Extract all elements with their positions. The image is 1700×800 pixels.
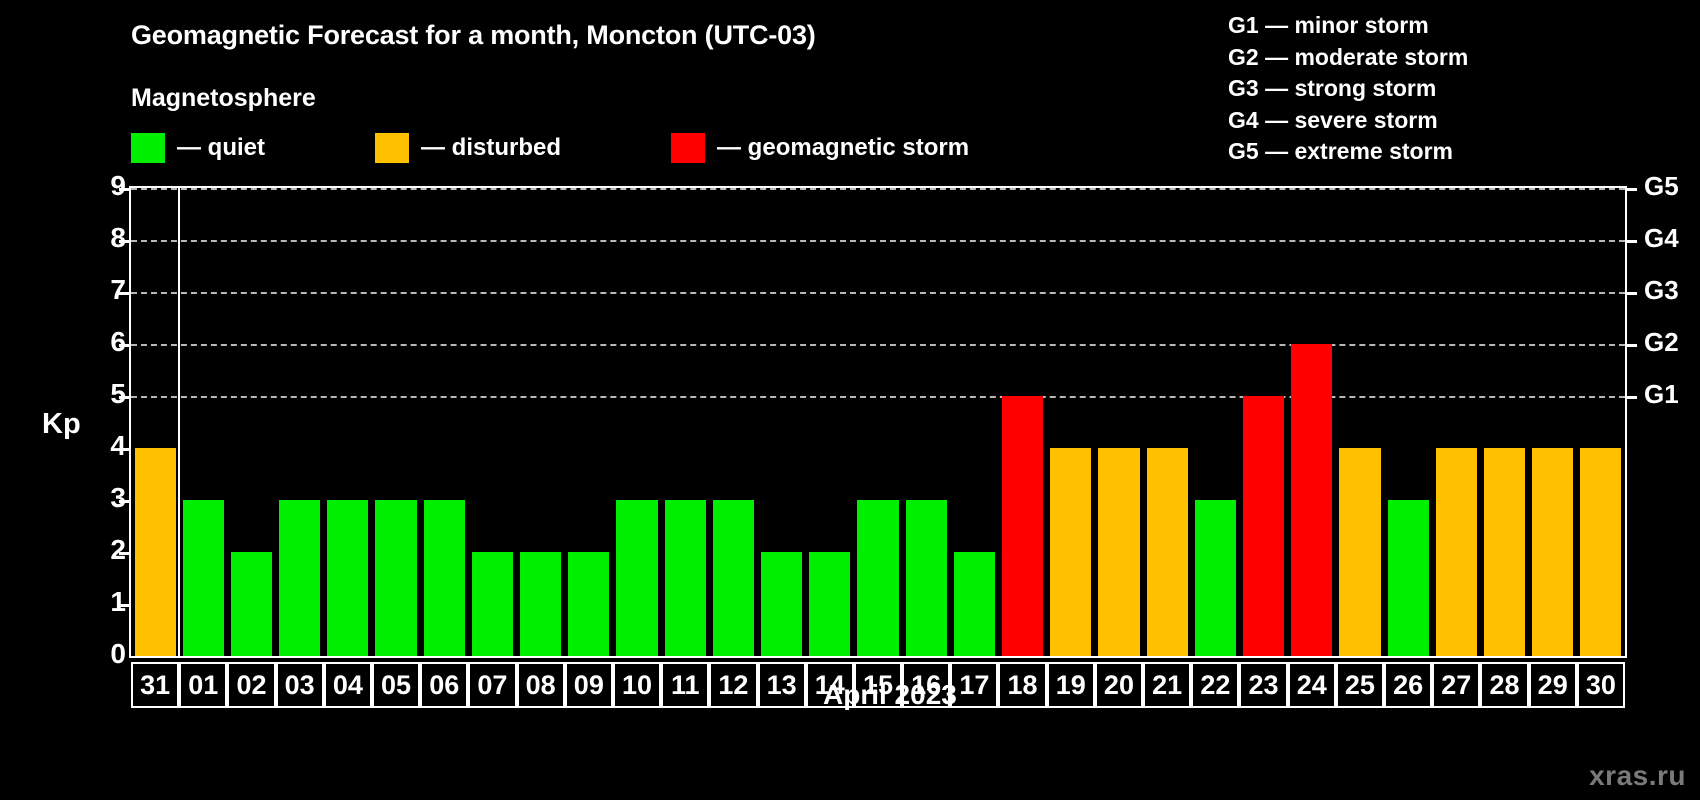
day-label-09[interactable]: 09 xyxy=(565,662,613,708)
bar-day-01[interactable] xyxy=(183,500,224,656)
bar-day-15[interactable] xyxy=(857,500,898,656)
bar-day-11[interactable] xyxy=(665,500,706,656)
day-label-27[interactable]: 27 xyxy=(1432,662,1480,708)
y-tick-mark-6 xyxy=(119,344,130,347)
bar-day-18[interactable] xyxy=(1002,396,1043,656)
g-tick-mark-G2 xyxy=(1626,344,1637,347)
bar-day-12[interactable] xyxy=(713,500,754,656)
y-tick-label-4: 4 xyxy=(84,430,126,462)
g-tick-label-G1: G1 xyxy=(1644,379,1679,410)
day-label-31[interactable]: 31 xyxy=(131,662,179,708)
bar-day-26[interactable] xyxy=(1388,500,1429,656)
day-label-26[interactable]: 26 xyxy=(1384,662,1432,708)
g-scale-legend: G1 — minor stormG2 — moderate stormG3 — … xyxy=(1228,10,1468,168)
day-label-24[interactable]: 24 xyxy=(1288,662,1336,708)
y-tick-mark-5 xyxy=(119,396,130,399)
bar-day-13[interactable] xyxy=(761,552,802,656)
g-tick-mark-G1 xyxy=(1626,396,1637,399)
plot-area xyxy=(129,186,1627,658)
bar-day-24[interactable] xyxy=(1291,344,1332,656)
day-label-01[interactable]: 01 xyxy=(179,662,227,708)
legend-label-disturbed: — disturbed xyxy=(421,134,561,162)
day-label-08[interactable]: 08 xyxy=(517,662,565,708)
bar-day-22[interactable] xyxy=(1195,500,1236,656)
g-legend-line-2: G2 — moderate storm xyxy=(1228,42,1468,74)
day-label-20[interactable]: 20 xyxy=(1095,662,1143,708)
y-tick-label-2: 2 xyxy=(84,534,126,566)
y-tick-label-3: 3 xyxy=(84,482,126,514)
legend-entry-disturbed: — disturbed xyxy=(375,133,561,163)
y-tick-label-0: 0 xyxy=(84,638,126,670)
y-tick-label-9: 9 xyxy=(84,170,126,202)
bar-day-30[interactable] xyxy=(1580,448,1621,656)
day-label-07[interactable]: 07 xyxy=(468,662,516,708)
day-label-19[interactable]: 19 xyxy=(1047,662,1095,708)
day-label-04[interactable]: 04 xyxy=(324,662,372,708)
g-legend-line-1: G1 — minor storm xyxy=(1228,10,1468,42)
bar-day-27[interactable] xyxy=(1436,448,1477,656)
legend-swatch-quiet-icon xyxy=(131,133,165,163)
day-label-17[interactable]: 17 xyxy=(950,662,998,708)
y-tick-mark-8 xyxy=(119,240,130,243)
y-tick-label-6: 6 xyxy=(84,326,126,358)
bar-day-06[interactable] xyxy=(424,500,465,656)
day-label-13[interactable]: 13 xyxy=(758,662,806,708)
bar-day-31[interactable] xyxy=(135,448,176,656)
legend-label-quiet: — quiet xyxy=(177,134,265,162)
g-tick-label-G4: G4 xyxy=(1644,223,1679,254)
legend-heading: Magnetosphere xyxy=(131,84,316,113)
day-label-10[interactable]: 10 xyxy=(613,662,661,708)
y-tick-mark-1 xyxy=(119,604,130,607)
legend-swatch-storm-icon xyxy=(671,133,705,163)
day-label-18[interactable]: 18 xyxy=(998,662,1046,708)
bar-day-19[interactable] xyxy=(1050,448,1091,656)
day-label-29[interactable]: 29 xyxy=(1529,662,1577,708)
day-label-25[interactable]: 25 xyxy=(1336,662,1384,708)
day-label-12[interactable]: 12 xyxy=(709,662,757,708)
day-label-02[interactable]: 02 xyxy=(227,662,275,708)
g-tick-label-G5: G5 xyxy=(1644,171,1679,202)
bar-day-02[interactable] xyxy=(231,552,272,656)
g-tick-mark-G5 xyxy=(1626,188,1637,191)
g-tick-label-G2: G2 xyxy=(1644,327,1679,358)
bar-day-16[interactable] xyxy=(906,500,947,656)
y-tick-mark-9 xyxy=(119,188,130,191)
bar-day-09[interactable] xyxy=(568,552,609,656)
day-label-11[interactable]: 11 xyxy=(661,662,709,708)
y-tick-label-1: 1 xyxy=(84,586,126,618)
y-tick-mark-3 xyxy=(119,500,130,503)
x-axis-title: April 2023 xyxy=(823,679,957,711)
g-legend-line-4: G4 — severe storm xyxy=(1228,105,1468,137)
g-tick-label-G3: G3 xyxy=(1644,275,1679,306)
y-tick-mark-2 xyxy=(119,552,130,555)
day-label-21[interactable]: 21 xyxy=(1143,662,1191,708)
g-legend-line-5: G5 — extreme storm xyxy=(1228,136,1468,168)
bar-day-28[interactable] xyxy=(1484,448,1525,656)
day-label-23[interactable]: 23 xyxy=(1239,662,1287,708)
page-title: Geomagnetic Forecast for a month, Moncto… xyxy=(131,20,816,51)
day-label-05[interactable]: 05 xyxy=(372,662,420,708)
y-axis-title: Kp xyxy=(42,408,81,441)
bar-day-29[interactable] xyxy=(1532,448,1573,656)
g-tick-mark-G3 xyxy=(1626,292,1637,295)
bar-day-03[interactable] xyxy=(279,500,320,656)
legend-swatch-disturbed-icon xyxy=(375,133,409,163)
y-tick-label-8: 8 xyxy=(84,222,126,254)
y-tick-mark-7 xyxy=(119,292,130,295)
bar-day-05[interactable] xyxy=(375,500,416,656)
bar-day-20[interactable] xyxy=(1098,448,1139,656)
legend-label-storm: — geomagnetic storm xyxy=(717,134,969,162)
bar-day-17[interactable] xyxy=(954,552,995,656)
watermark: xras.ru xyxy=(1589,760,1686,792)
bar-day-07[interactable] xyxy=(472,552,513,656)
day-label-22[interactable]: 22 xyxy=(1191,662,1239,708)
bar-day-08[interactable] xyxy=(520,552,561,656)
bar-day-14[interactable] xyxy=(809,552,850,656)
magnetosphere-legend: — quiet— disturbed— geomagnetic storm xyxy=(131,132,969,164)
bar-day-21[interactable] xyxy=(1147,448,1188,656)
day-label-03[interactable]: 03 xyxy=(276,662,324,708)
y-tick-mark-4 xyxy=(119,448,130,451)
g-tick-mark-G4 xyxy=(1626,240,1637,243)
day-label-30[interactable]: 30 xyxy=(1577,662,1625,708)
y-tick-label-7: 7 xyxy=(84,274,126,306)
day-label-28[interactable]: 28 xyxy=(1480,662,1528,708)
bars-layer xyxy=(131,188,1625,656)
bar-day-10[interactable] xyxy=(616,500,657,656)
bar-day-23[interactable] xyxy=(1243,396,1284,656)
g-legend-line-3: G3 — strong storm xyxy=(1228,73,1468,105)
bar-day-04[interactable] xyxy=(327,500,368,656)
legend-entry-quiet: — quiet xyxy=(131,133,265,163)
y-tick-label-5: 5 xyxy=(84,378,126,410)
bar-day-25[interactable] xyxy=(1339,448,1380,656)
legend-entry-storm: — geomagnetic storm xyxy=(671,133,969,163)
day-label-06[interactable]: 06 xyxy=(420,662,468,708)
